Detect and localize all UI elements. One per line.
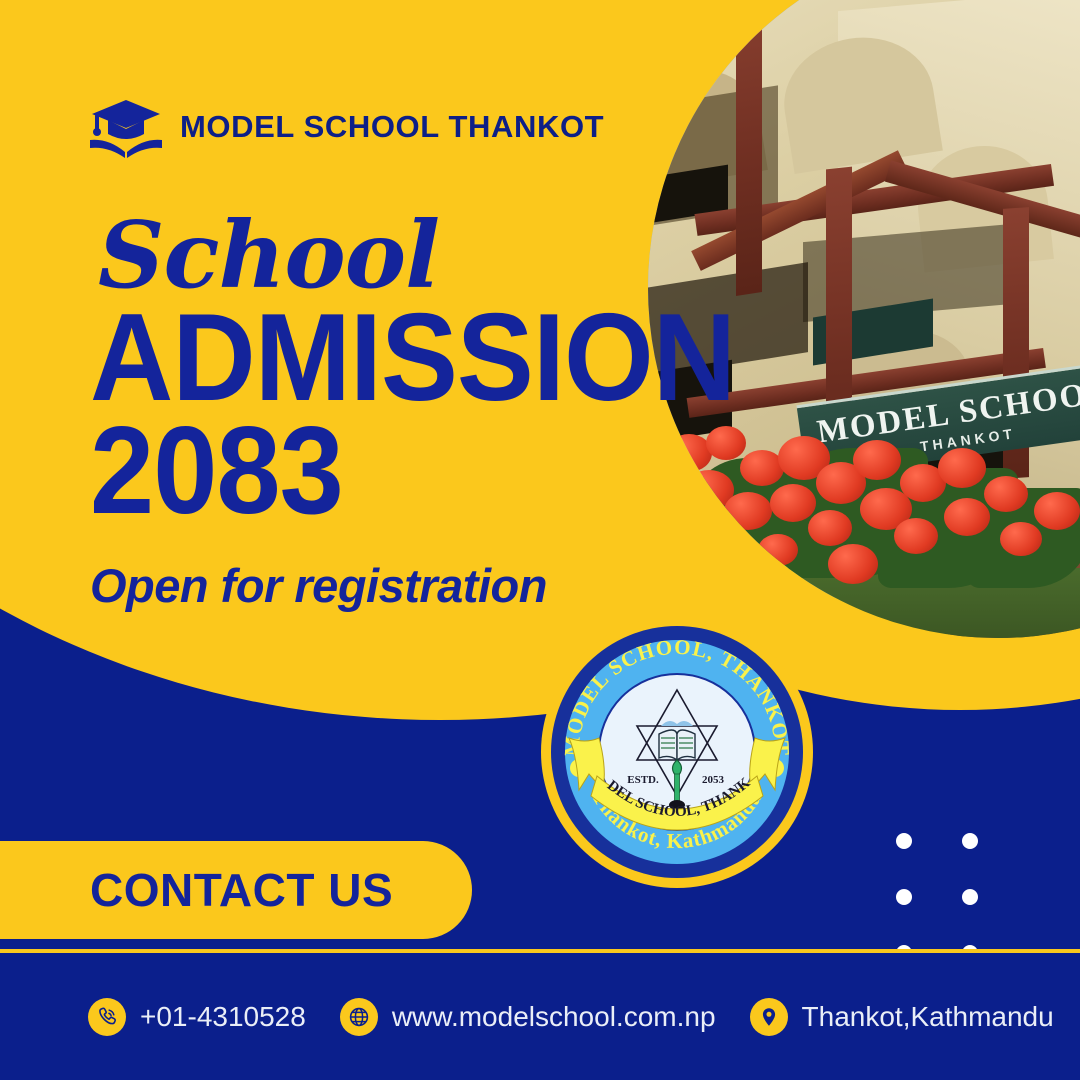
footer-website-text: www.modelschool.com.np xyxy=(392,1001,716,1033)
decor-dot xyxy=(962,833,978,849)
graduation-cap-book-icon xyxy=(88,96,164,158)
decor-dot xyxy=(962,889,978,905)
admission-poster: MODEL SCHOOL THANKOT xyxy=(0,0,1080,1080)
headline-year: 2083 xyxy=(90,416,735,528)
phone-icon xyxy=(88,998,126,1036)
location-pin-icon xyxy=(750,998,788,1036)
contact-us-button[interactable]: CONTACT US xyxy=(0,841,472,939)
contact-us-label: CONTACT US xyxy=(90,863,393,917)
school-seal-emblem: MODEL SCHOOL, THANKOT Thankot, Kathmandu… xyxy=(541,616,813,888)
brand-name: MODEL SCHOOL THANKOT xyxy=(180,109,604,145)
dot-grid-decoration xyxy=(896,833,978,961)
decor-dot xyxy=(896,833,912,849)
headline-script-word: School xyxy=(98,212,784,299)
headline-main-word: ADMISSION xyxy=(90,305,735,412)
contact-footer-bar: +01-4310528 www.modelschool.com.np Thank… xyxy=(0,949,1080,1080)
seal-estd-label: ESTD. xyxy=(627,774,659,786)
footer-website-item[interactable]: www.modelschool.com.np xyxy=(340,998,716,1036)
seal-estd-year: 2053 xyxy=(702,774,725,786)
headline-subtitle: Open for registration xyxy=(90,558,784,613)
decor-dot xyxy=(896,889,912,905)
footer-location-text: Thankot,Kathmandu xyxy=(802,1001,1054,1033)
footer-phone-text: +01-4310528 xyxy=(140,1001,306,1033)
brand-header: MODEL SCHOOL THANKOT xyxy=(88,96,604,158)
footer-phone-item[interactable]: +01-4310528 xyxy=(88,998,306,1036)
globe-icon xyxy=(340,998,378,1036)
footer-location-item[interactable]: Thankot,Kathmandu xyxy=(750,998,1054,1036)
headline-block: School ADMISSION 2083 Open for registrat… xyxy=(90,212,784,613)
